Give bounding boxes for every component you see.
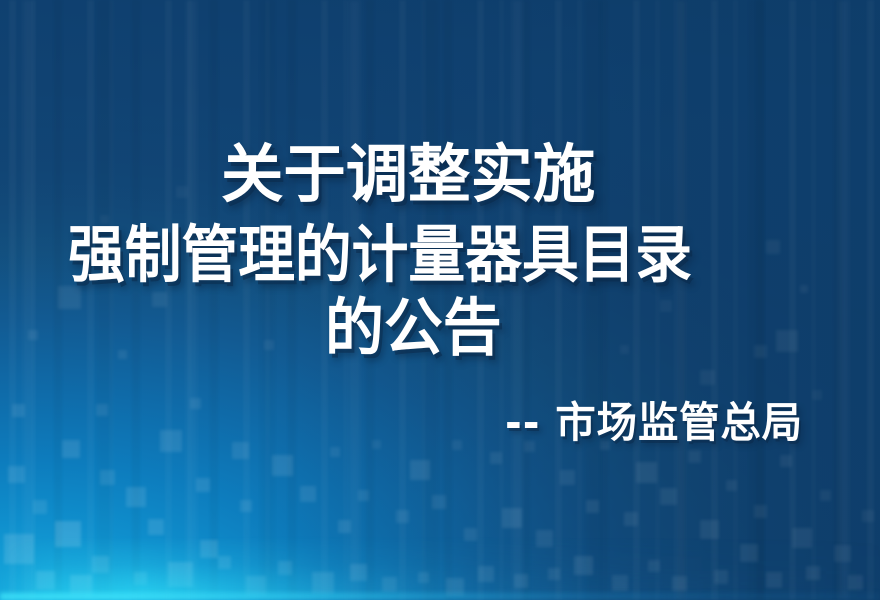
- title-line-2: 强制管理的计量器具目录: [68, 224, 692, 286]
- title-line-3: 的公告: [325, 297, 502, 359]
- announcement-banner: 关于调整实施 强制管理的计量器具目录 的公告 -- 市场监管总局: [0, 0, 880, 600]
- title-text-block: 关于调整实施 强制管理的计量器具目录 的公告 -- 市场监管总局: [0, 0, 880, 600]
- title-line-1: 关于调整实施: [221, 143, 595, 206]
- attribution-line: -- 市场监管总局: [505, 402, 803, 444]
